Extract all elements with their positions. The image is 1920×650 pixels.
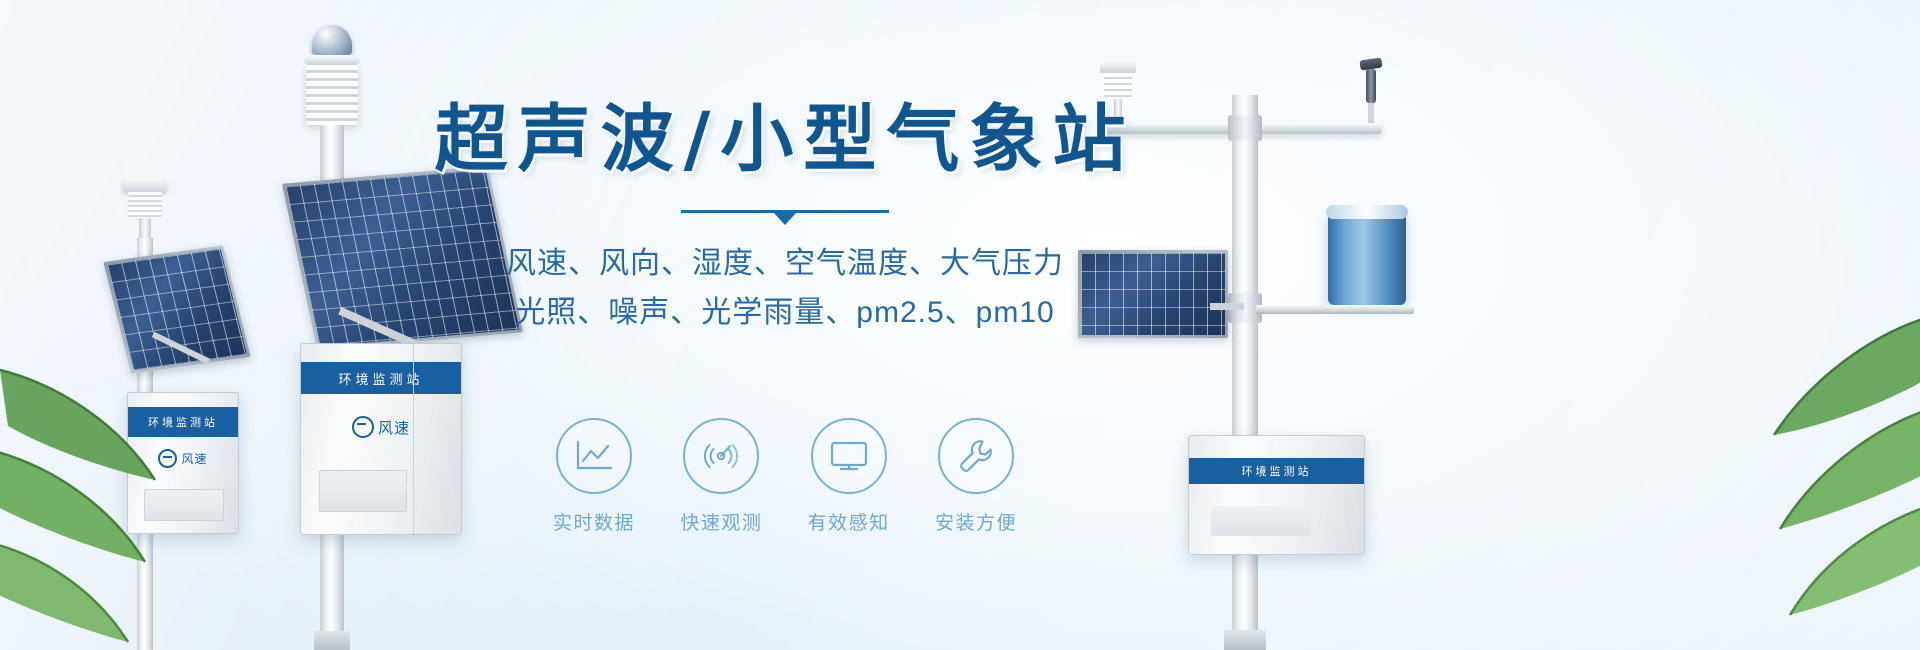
feature-item-easy-install[interactable]: 安装方便	[922, 418, 1030, 535]
leaf-decoration-right	[1700, 285, 1920, 650]
radiation-shield-middle	[304, 55, 360, 65]
panel-mount-bracket-right	[1210, 303, 1244, 310]
feature-label: 安装方便	[922, 508, 1030, 535]
ultrasonic-sensor-head-left	[123, 178, 167, 192]
anemometer-louvers-right	[1104, 73, 1132, 99]
feature-label: 实时数据	[540, 508, 648, 535]
wrench-tool-icon	[938, 418, 1014, 494]
dome-sensor-icon	[312, 25, 352, 55]
mast-right	[1232, 95, 1258, 650]
hero-banner: 环境监测站 风速 环境监测站 风速	[0, 0, 1920, 650]
hero-text-block: 超声波/小型气象站 风速、风向、湿度、空气温度、大气压力 光照、噪声、光学雨量、…	[415, 100, 1155, 337]
feature-item-fast-observation[interactable]: 快速观测	[667, 418, 775, 535]
rain-gauge-icon	[1328, 210, 1406, 305]
subtitle-line-2: 光照、噪声、光学雨量、pm2.5、pm10	[415, 289, 1155, 338]
radar-wave-icon	[683, 418, 759, 494]
cabinet-label-bar-middle: 环境监测站	[301, 362, 461, 394]
sensor-neck-left	[139, 218, 151, 240]
leaf-decoration-left	[0, 330, 220, 650]
rain-gauge-shelf-right	[1256, 305, 1414, 314]
feature-item-realtime-data[interactable]: 实时数据	[540, 418, 648, 535]
mast-base-right	[1224, 630, 1266, 650]
wind-vane-body-right	[1366, 69, 1376, 103]
ultrasonic-anemometer-icon	[1100, 61, 1136, 73]
subtitle-block: 风速、风向、湿度、空气温度、大气压力 光照、噪声、光学雨量、pm2.5、pm10	[415, 240, 1155, 337]
cabinet-door-seam-middle	[413, 344, 414, 534]
brand-mark-icon	[352, 416, 374, 438]
wind-vane-stem-right	[1368, 103, 1374, 125]
cabinet-label-middle: 环境监测站	[338, 369, 423, 388]
divider-triangle-icon	[774, 213, 796, 225]
cabinet-vent-right	[1211, 506, 1311, 536]
monitor-screen-icon	[811, 418, 887, 494]
feature-list: 实时数据 快速观测	[540, 418, 1030, 535]
cabinet-brand-text-middle: 风速	[378, 417, 410, 438]
cabinet-middle: 环境监测站 风速	[300, 343, 462, 535]
cabinet-label-bar-right: 环境监测站	[1189, 458, 1364, 484]
page-title: 超声波/小型气象站	[415, 100, 1155, 180]
feature-item-effective-sensing[interactable]: 有效感知	[795, 418, 903, 535]
feature-label: 有效感知	[795, 508, 903, 535]
rain-gauge-rim-right	[1326, 205, 1408, 219]
cabinet-right: 环境监测站	[1188, 435, 1365, 555]
cabinet-vent-middle	[319, 470, 407, 512]
title-divider	[681, 210, 889, 226]
feature-label: 快速观测	[667, 508, 775, 535]
louver-stack-middle	[306, 65, 358, 125]
line-chart-icon	[556, 418, 632, 494]
sensor-stack-left	[128, 192, 162, 218]
cabinet-label-right: 环境监测站	[1242, 463, 1312, 479]
cabinet-brand-middle: 风速	[301, 416, 461, 438]
mast-base-middle	[314, 631, 350, 650]
mast-collar-upper-right	[1228, 115, 1262, 141]
subtitle-line-1: 风速、风向、湿度、空气温度、大气压力	[415, 240, 1155, 289]
